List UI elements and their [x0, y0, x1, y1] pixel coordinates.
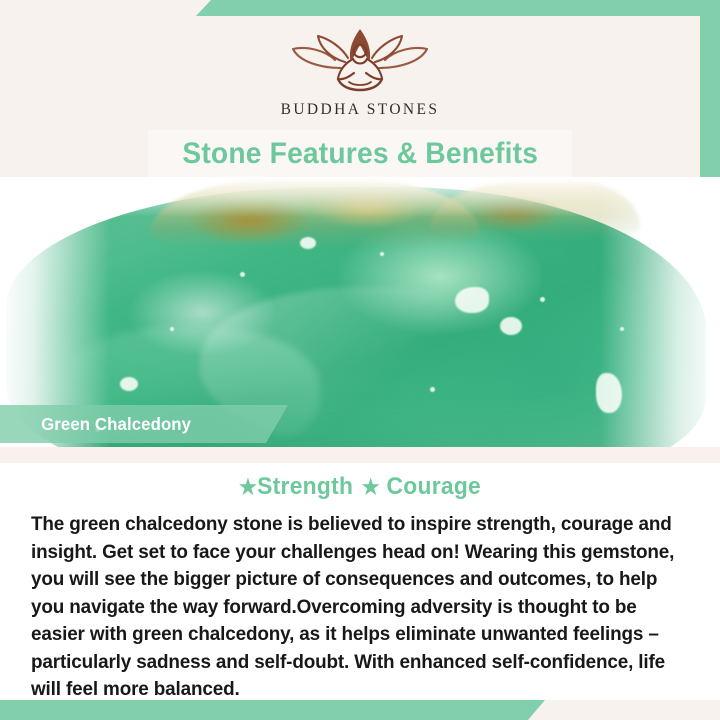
stone-name-label: Green Chalcedony	[41, 414, 191, 435]
stone-chip-4	[120, 377, 138, 391]
brand-logo: BUDDHA STONES	[0, 24, 720, 119]
benefit-label-strength: Strength	[257, 473, 353, 500]
brand-name: BUDDHA STONES	[281, 101, 440, 119]
benefit-label-courage: Courage	[387, 473, 481, 500]
stone-chip-2	[500, 317, 522, 335]
description-text: The green chalcedony stone is believed t…	[31, 511, 682, 704]
hero-fade-right	[600, 177, 720, 447]
stone-chip-1	[455, 287, 489, 313]
content-section: ★Strength★ Courage The green chalcedony …	[0, 463, 720, 700]
stone-sparkle-4	[170, 327, 174, 331]
stone-sparkle-5	[430, 387, 435, 392]
separator-strip	[0, 447, 720, 463]
stone-name-banner: Green Chalcedony	[0, 405, 288, 443]
stone-sparkle-1	[240, 272, 245, 277]
lotus-meditation-figure-icon	[275, 24, 445, 96]
page-title: Stone Features & Benefits	[182, 137, 538, 171]
star-icon-strength: ★	[239, 476, 257, 499]
title-banner: Stone Features & Benefits	[148, 130, 572, 177]
benefits-heading: ★Strength★ Courage	[18, 473, 702, 501]
infographic-page: BUDDHA STONES Stone Features & Benefits	[0, 0, 720, 720]
stone-sparkle-3	[540, 297, 545, 302]
star-icon-courage: ★	[362, 476, 380, 499]
stone-chip-5	[300, 237, 316, 249]
stone-sparkle-2	[380, 252, 384, 256]
decorative-band-top	[195, 0, 720, 17]
